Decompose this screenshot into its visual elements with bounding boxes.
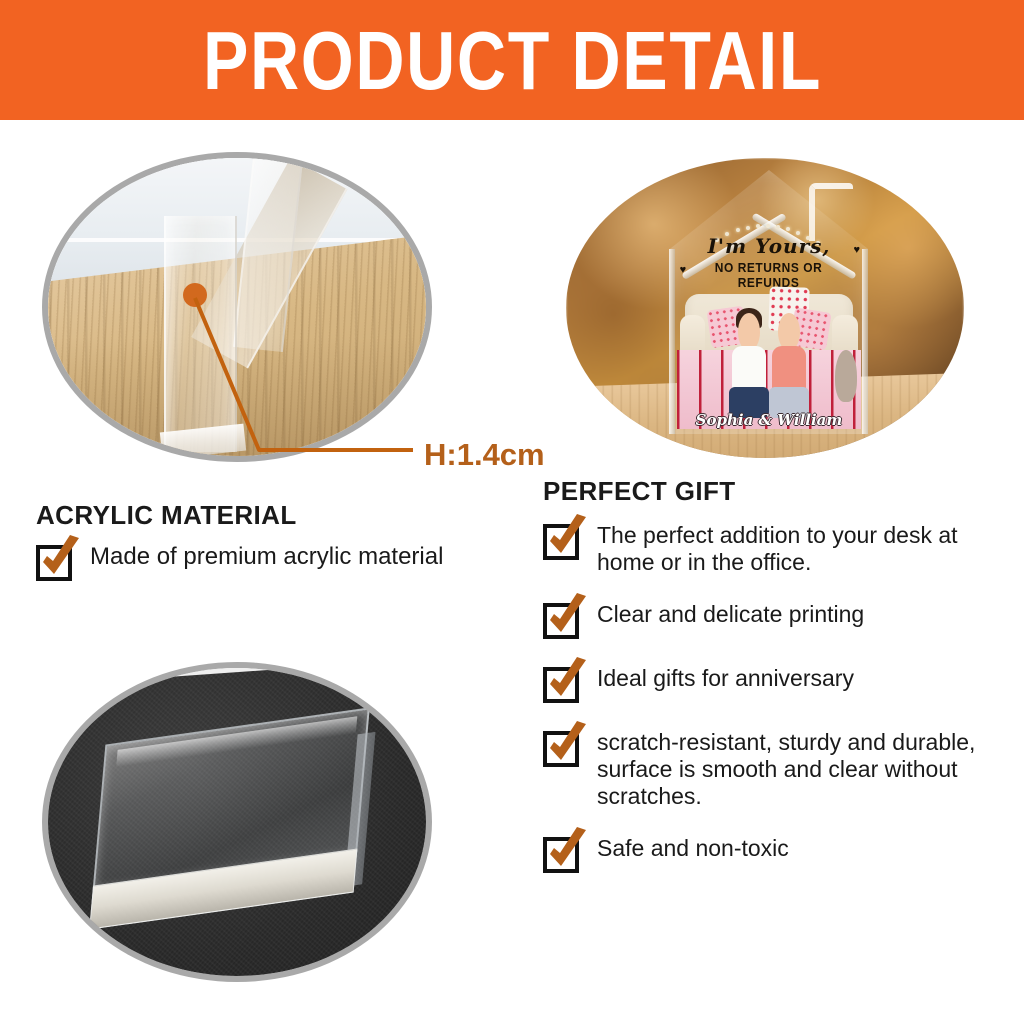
plaque-quote-block: ♥ ♥ I'm Yours, NO RETURNS OR REFUNDS — [681, 236, 856, 290]
photo-acrylic-slab — [42, 662, 432, 982]
wood-table-scene — [46, 156, 428, 458]
illustration-teddy-bear — [835, 350, 857, 403]
list-item-label: Made of premium acrylic material — [90, 543, 443, 571]
checkmark-icon — [543, 731, 579, 767]
list-item-label: scratch-resistant, sturdy and durable, s… — [597, 729, 1013, 809]
checkmark-icon — [543, 603, 579, 639]
plaque-quote-line-1: I'm Yours, — [681, 236, 856, 256]
illustration-person-female — [769, 313, 809, 419]
list-item: Made of premium acrylic material — [36, 543, 526, 581]
height-callout-label: H:1.4cm — [424, 437, 545, 473]
list-item-label: Ideal gifts for anniversary — [597, 665, 854, 692]
acrylic-house-plaque: ♥ ♥ I'm Yours, NO RETURNS OR REFUNDS S — [669, 170, 868, 434]
page-title: PRODUCT DETAIL — [202, 19, 821, 102]
plaque-names-text: Sophia & William — [669, 411, 868, 429]
list-item: Ideal gifts for anniversary — [543, 665, 1013, 703]
heart-icon-left: ♥ — [680, 264, 687, 276]
heart-icon-right: ♥ — [853, 244, 860, 256]
checkmark-icon — [543, 837, 579, 873]
illustration-person-male — [729, 313, 769, 419]
female-torso — [772, 346, 805, 390]
feature-list-acrylic-material: Made of premium acrylic material — [36, 543, 526, 607]
plaque-quote-line-2: NO RETURNS OR REFUNDS — [688, 260, 849, 290]
female-head — [778, 313, 800, 351]
plaque-right-edge — [862, 249, 868, 434]
section-heading-perfect-gift: PERFECT GIFT — [543, 476, 736, 507]
section-heading-acrylic-material: ACRYLIC MATERIAL — [36, 500, 297, 531]
list-item-label: Safe and non-toxic — [597, 835, 789, 862]
dark-fabric-scene — [46, 666, 428, 978]
page-header-banner: PRODUCT DETAIL — [0, 0, 1024, 120]
list-item: Clear and delicate printing — [543, 601, 1013, 639]
plaque-left-edge — [669, 249, 675, 434]
male-torso — [732, 346, 765, 390]
photo-acrylic-block-edge — [42, 152, 432, 462]
male-head — [738, 313, 760, 351]
feature-list-perfect-gift: The perfect addition to your desk at hom… — [543, 522, 1013, 899]
callout-dot-icon — [183, 283, 207, 307]
list-item: The perfect addition to your desk at hom… — [543, 522, 1013, 575]
list-item-label: Clear and delicate printing — [597, 601, 864, 628]
checkmark-icon — [543, 524, 579, 560]
photo-house-plaque: ♥ ♥ I'm Yours, NO RETURNS OR REFUNDS S — [566, 158, 964, 458]
checkmark-icon — [543, 667, 579, 703]
list-item: Safe and non-toxic — [543, 835, 1013, 873]
checkmark-icon — [36, 545, 72, 581]
acrylic-block-front-face — [164, 216, 237, 452]
list-item: scratch-resistant, sturdy and durable, s… — [543, 729, 1013, 809]
list-item-label: The perfect addition to your desk at hom… — [597, 522, 1013, 575]
